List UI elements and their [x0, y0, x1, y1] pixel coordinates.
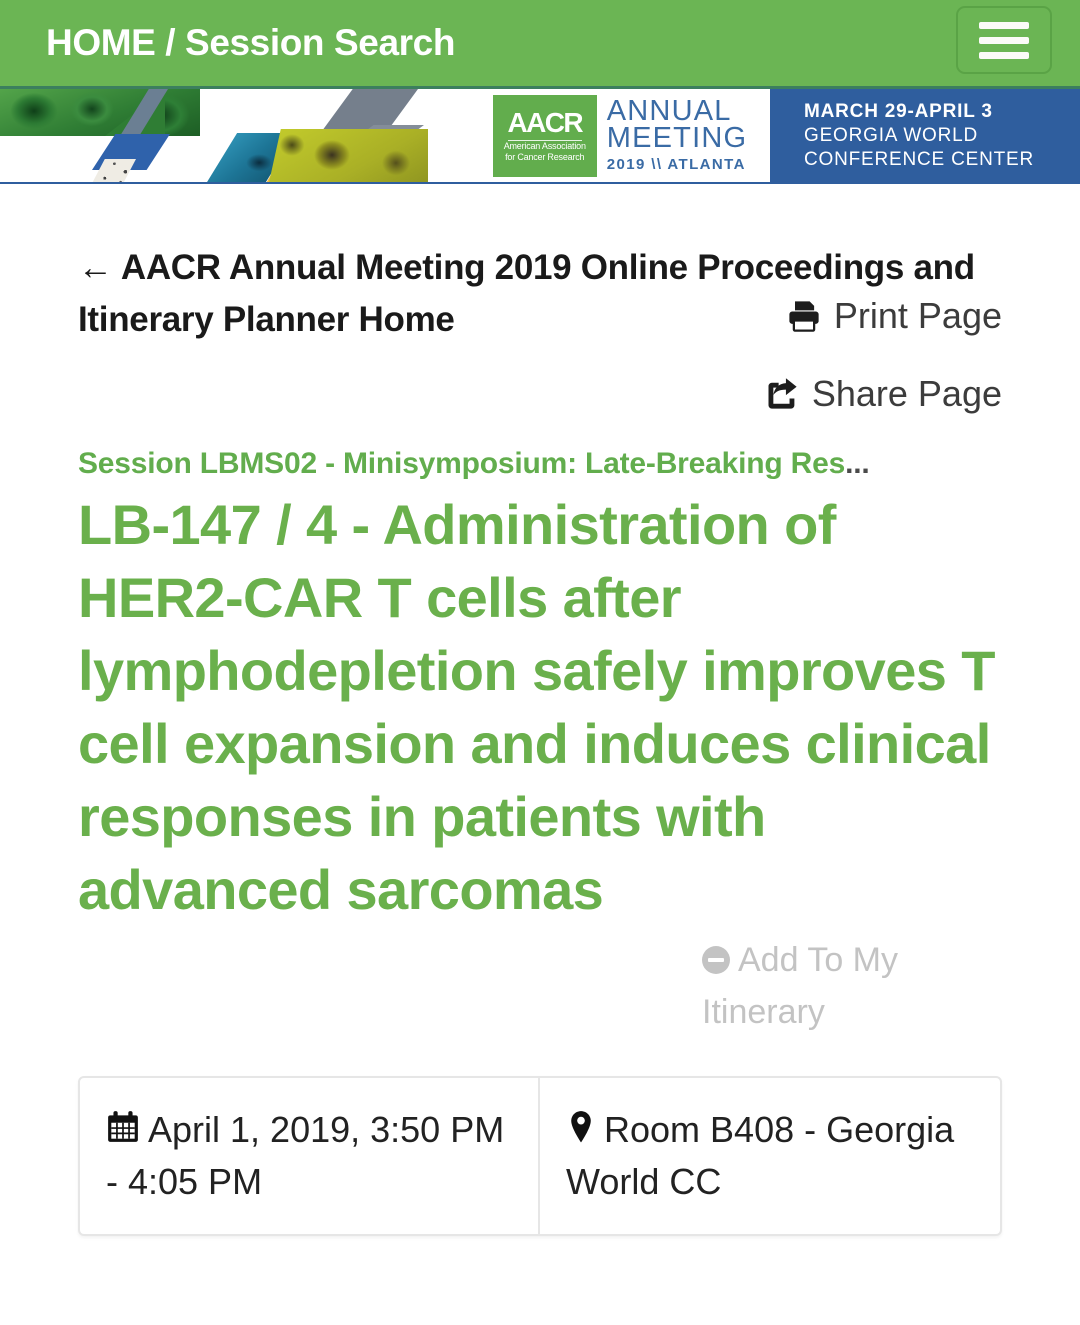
session-location-text: Room B408 - Georgia World CC: [566, 1109, 954, 1202]
navigation-row: ← AACR Annual Meeting 2019 Online Procee…: [78, 242, 1002, 422]
add-to-itinerary-button[interactable]: Add To My Itinerary: [702, 934, 1002, 1038]
annual-meeting-text: ANNUAL MEETING 2019 \\ ATLANTA: [607, 98, 748, 173]
aacr-tagline-line1: American Association: [504, 141, 586, 152]
meeting-year-location: 2019 \\ ATLANTA: [607, 156, 748, 173]
session-info-box: April 1, 2019, 3:50 PM - 4:05 PM Room B4…: [78, 1076, 1002, 1236]
page-actions: Print Page Share Page: [572, 290, 1002, 420]
banner-collage-image: [0, 89, 470, 182]
hamburger-icon-bar: [979, 37, 1029, 44]
print-page-label: Print Page: [834, 290, 1002, 342]
main-content: ← AACR Annual Meeting 2019 Online Procee…: [0, 242, 1080, 1236]
map-pin-icon: [566, 1110, 596, 1144]
meeting-line-annual: ANNUAL: [607, 98, 748, 125]
hamburger-icon-bar: [979, 22, 1029, 29]
abstract-title[interactable]: LB-147 / 4 - Administration of HER2-CAR …: [78, 488, 998, 926]
share-icon: [764, 376, 800, 412]
itinerary-row: Add To My Itinerary: [78, 934, 1002, 1038]
top-header-bar: HOME / Session Search: [0, 0, 1080, 86]
aacr-logo: AACR American Association for Cancer Res…: [470, 89, 770, 182]
conference-banner[interactable]: AACR American Association for Cancer Res…: [0, 86, 1080, 184]
session-datetime-text: April 1, 2019, 3:50 PM - 4:05 PM: [106, 1109, 504, 1202]
session-label: Session LBMS02 - Minisymposium: Late-Bre…: [78, 447, 845, 480]
aacr-logo-rule: [508, 140, 582, 141]
session-location-cell: Room B408 - Georgia World CC: [540, 1078, 1000, 1234]
share-page-label: Share Page: [812, 368, 1002, 420]
session-truncation-ellipsis: ...: [845, 447, 869, 480]
hamburger-menu-button[interactable]: [956, 6, 1052, 74]
banner-dates-line3: CONFERENCE CENTER: [804, 148, 1080, 172]
hamburger-icon-bar: [979, 52, 1029, 59]
aacr-tagline-line2: for Cancer Research: [505, 152, 584, 163]
add-to-itinerary-label: Add To My Itinerary: [702, 941, 898, 1031]
calendar-icon: [106, 1110, 140, 1144]
collage-olive-photo: [268, 129, 428, 182]
aacr-acronym: AACR: [507, 109, 581, 137]
printer-icon: [786, 298, 822, 334]
collage-speckle-shape: [88, 159, 136, 182]
meeting-line-meeting: MEETING: [607, 125, 748, 152]
banner-dates-line2: GEORGIA WORLD: [804, 124, 1080, 148]
breadcrumb[interactable]: HOME / Session Search: [46, 22, 455, 64]
banner-dates-panel: MARCH 29-APRIL 3 GEORGIA WORLD CONFERENC…: [770, 89, 1080, 182]
back-arrow-icon: ←: [78, 248, 113, 287]
session-link[interactable]: Session LBMS02 - Minisymposium: Late-Bre…: [78, 444, 1002, 484]
share-page-button[interactable]: Share Page: [764, 368, 1002, 420]
collage-gray-parallelogram: [322, 89, 418, 131]
session-datetime-cell: April 1, 2019, 3:50 PM - 4:05 PM: [80, 1078, 540, 1234]
collage-photo-green: [0, 89, 200, 136]
banner-dates-line1: MARCH 29-APRIL 3: [804, 100, 1080, 124]
circle-minus-icon: [702, 946, 730, 974]
print-page-button[interactable]: Print Page: [786, 290, 1002, 342]
aacr-logo-mark: AACR American Association for Cancer Res…: [493, 95, 597, 177]
